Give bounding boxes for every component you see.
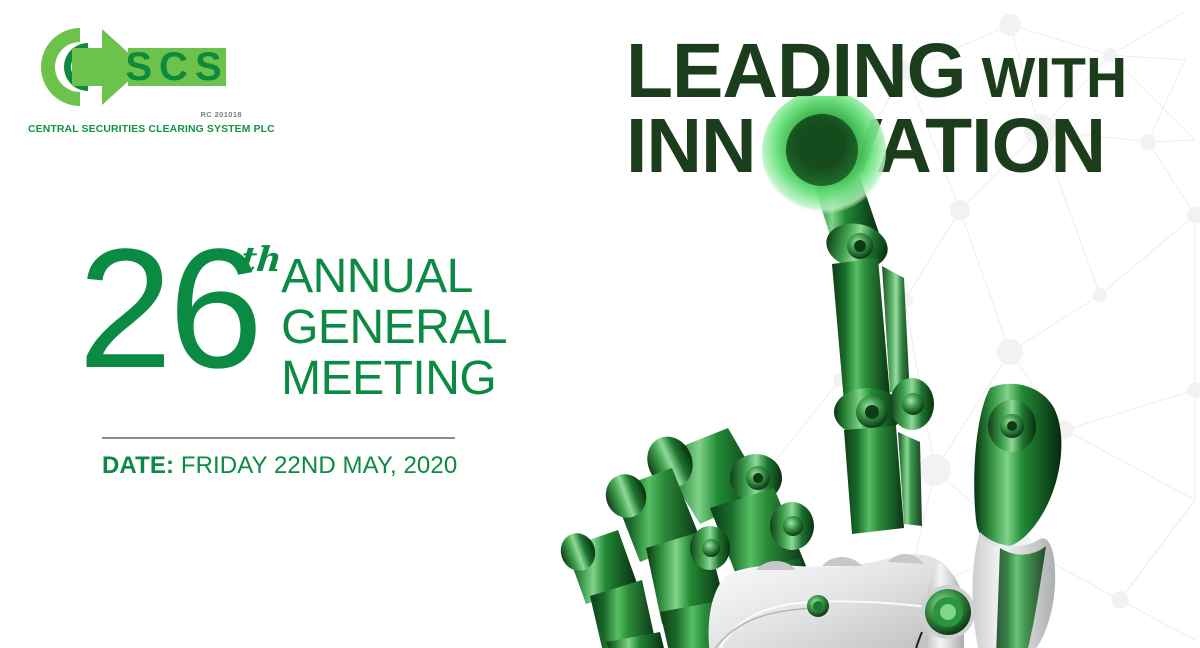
event-date: DATE: FRIDAY 22ND MAY, 2020 — [102, 452, 457, 480]
robotic-hand-illustration — [560, 96, 1100, 648]
divider-rule — [102, 437, 455, 439]
agm-title-meeting: MEETING — [281, 354, 507, 405]
date-value: FRIDAY 22ND MAY, 2020 — [181, 452, 457, 479]
cscs-logo-icon: SCS — [28, 26, 228, 108]
robot-palm — [709, 554, 975, 648]
fingertip-glow — [762, 96, 886, 214]
agm-number: 26 — [78, 236, 259, 382]
date-label: DATE: — [102, 452, 174, 479]
logo-wordmark: SCS — [125, 45, 228, 89]
logo-rc-number: RC 201018 — [156, 110, 242, 119]
agm-ordinal-number: 26 th — [78, 236, 265, 382]
logo-company-name: CENTRAL SECURITIES CLEARING SYSTEM PLC — [28, 124, 243, 135]
agm-title-block: 26 th ANNUAL GENERAL MEETING — [78, 236, 548, 405]
agm-title-annual: ANNUAL — [281, 252, 507, 303]
agm-poster: SCS RC 201018 CENTRAL SECURITIES CLEARIN… — [0, 0, 1200, 648]
thumb — [973, 384, 1062, 648]
agm-title-general: GENERAL — [281, 303, 507, 354]
cscs-logo-block: SCS RC 201018 CENTRAL SECURITIES CLEARIN… — [28, 26, 243, 144]
agm-ordinal-suffix: th — [239, 240, 284, 280]
agm-title-lines: ANNUAL GENERAL MEETING — [281, 252, 507, 405]
